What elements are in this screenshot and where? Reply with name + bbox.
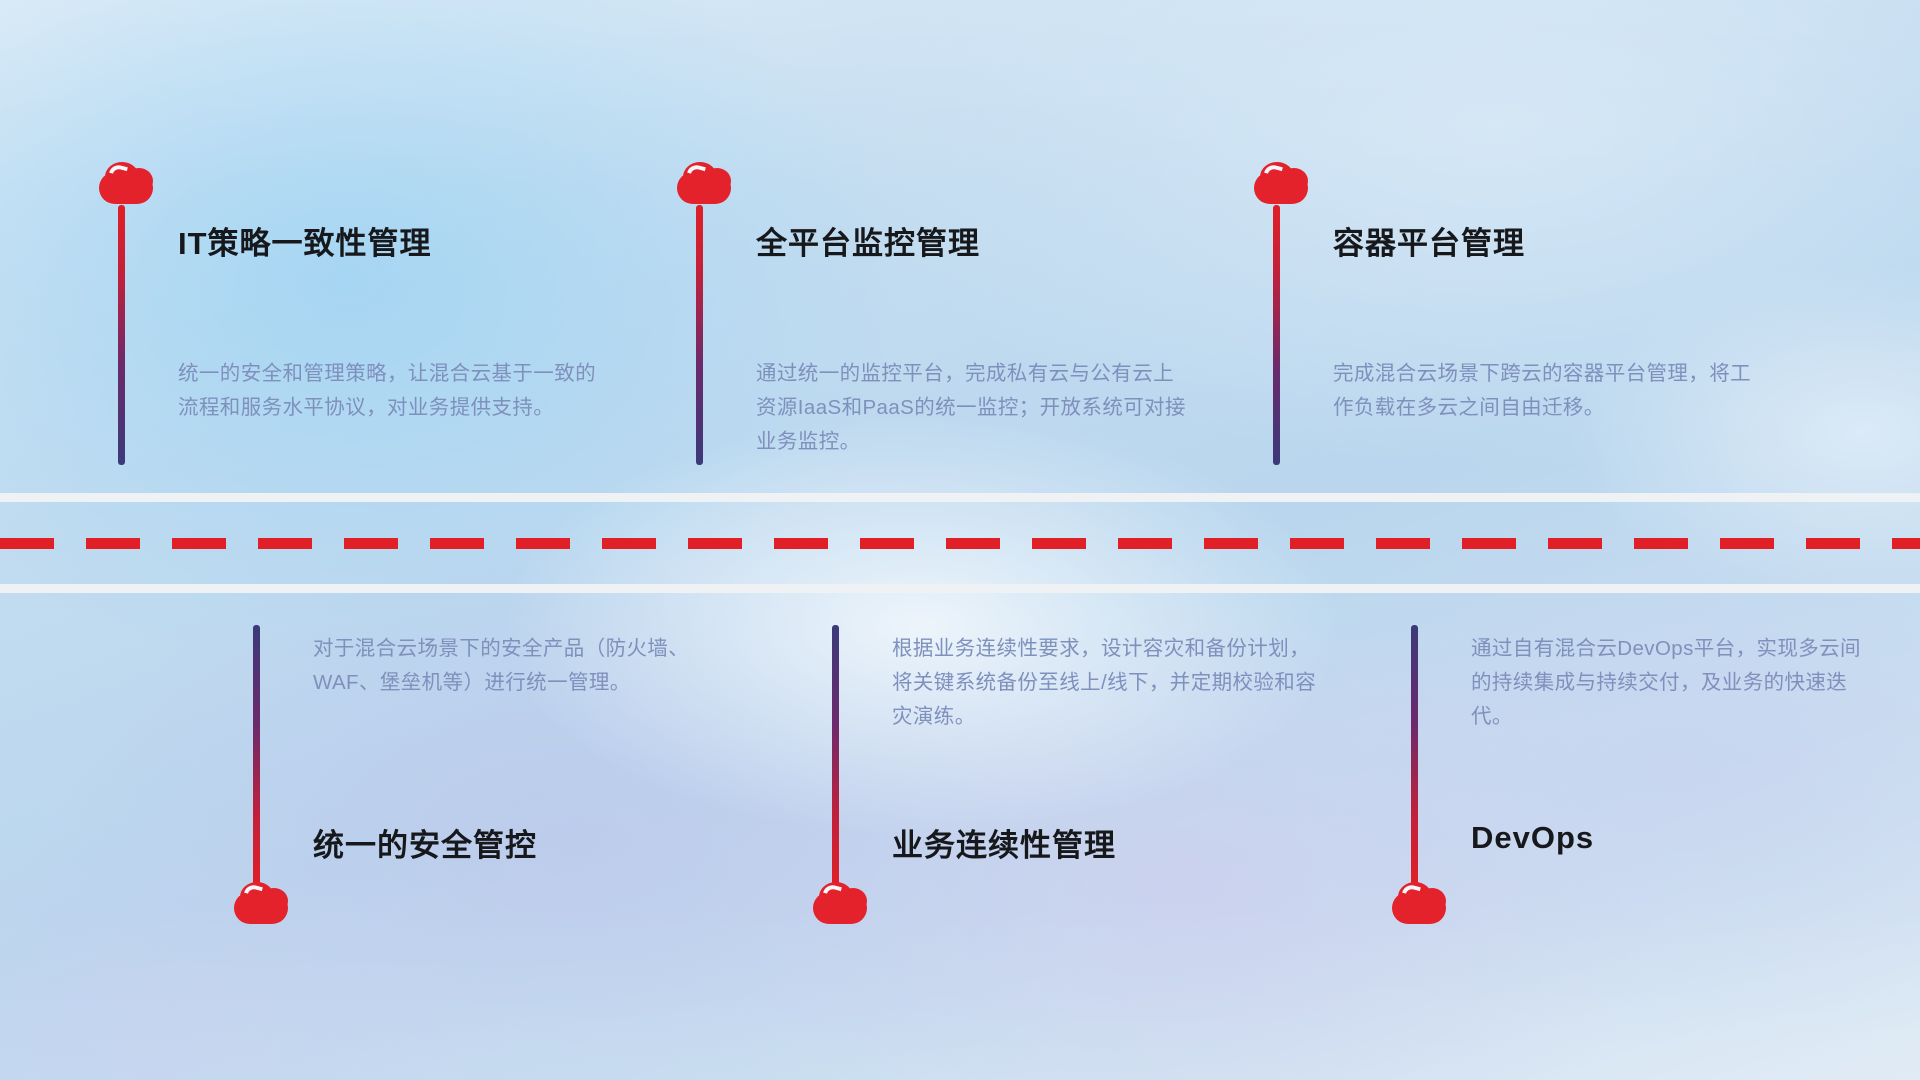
bottom-column-2-heading: 业务连续性管理 [892, 820, 1116, 865]
cloud-icon [673, 160, 735, 206]
connector-line [1273, 205, 1280, 465]
top-column-3-heading: 容器平台管理 [1333, 218, 1525, 263]
center-divider [0, 493, 1920, 593]
top-column-3-body: 完成混合云场景下跨云的容器平台管理，将工作负载在多云之间自由迁移。 [1333, 357, 1763, 425]
cloud-icon [230, 880, 292, 926]
connector-line [253, 625, 260, 885]
divider-bar-top [0, 493, 1920, 502]
top-column-2-heading: 全平台监控管理 [756, 218, 980, 263]
divider-bar-bottom [0, 584, 1920, 593]
cloud-icon [809, 880, 871, 926]
cloud-icon [95, 160, 157, 206]
connector-line [832, 625, 839, 885]
bottom-column-3-body: 通过自有混合云DevOps平台，实现多云间的持续集成与持续交付，及业务的快速迭代… [1471, 632, 1871, 734]
red-dashed-separator [0, 538, 1920, 549]
bottom-column-3-heading: DevOps [1471, 820, 1594, 856]
bottom-column-1-body: 对于混合云场景下的安全产品（防火墙、WAF、堡垒机等）进行统一管理。 [313, 632, 743, 700]
connector-line [696, 205, 703, 465]
bottom-column-2-body: 根据业务连续性要求，设计容灾和备份计划，将关键系统备份至线上/线下，并定期校验和… [892, 632, 1322, 734]
bottom-column-1-heading: 统一的安全管控 [313, 820, 537, 865]
cloud-icon [1250, 160, 1312, 206]
connector-line [118, 205, 125, 465]
top-column-1-body: 统一的安全和管理策略，让混合云基于一致的流程和服务水平协议，对业务提供支持。 [178, 357, 608, 425]
cloud-icon [1388, 880, 1450, 926]
connector-line [1411, 625, 1418, 885]
top-column-1-heading: IT策略一致性管理 [178, 218, 432, 263]
top-column-2-body: 通过统一的监控平台，完成私有云与公有云上资源IaaS和PaaS的统一监控；开放系… [756, 357, 1186, 459]
